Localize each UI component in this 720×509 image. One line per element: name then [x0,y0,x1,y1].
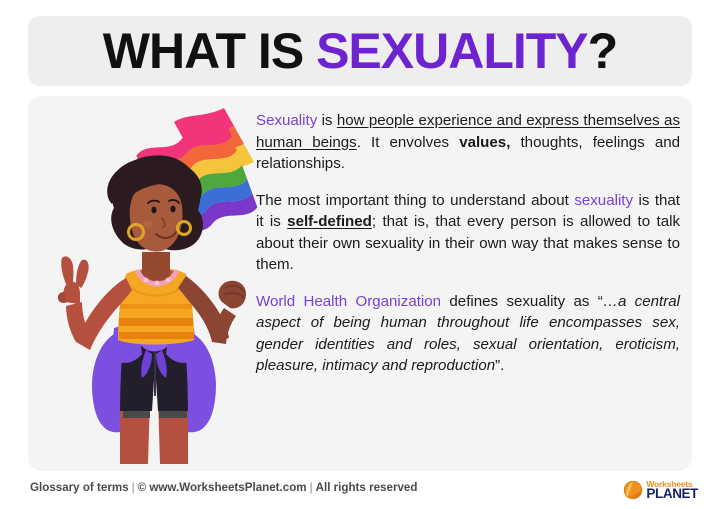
planet-ball-icon [623,480,643,500]
p1-seg-4: . It envolves [357,134,459,151]
p3-seg-4: ”. [495,357,504,374]
copyright-icon: © [138,481,147,494]
worksheets-planet-logo: Worksheets PLANET [623,477,698,503]
page-title: WHAT IS SEXUALITY? [103,26,617,76]
paragraph-1: Sexuality is how people experience and e… [256,110,680,175]
term-world-health-organization: World Health Organization [256,293,441,310]
illustration-woman-with-pride-flag [28,96,260,471]
neck-shape [142,252,170,281]
footer-website-link[interactable]: www.WorksheetsPlanet.com [149,481,306,494]
title-accent-part: SEXUALITY [316,23,588,79]
p2-term-sexuality: sexuality [574,192,633,209]
footer-rights-label: All rights reserved [316,481,418,494]
title-suffix-part: ? [588,23,618,79]
title-bar: WHAT IS SEXUALITY? [28,16,692,86]
p2-seg-1: The most important thing to understand a… [256,192,574,209]
footer-credit-line: Glossary of terms|© www.WorksheetsPlanet… [30,481,417,494]
worksheet-page: WHAT IS SEXUALITY? [0,0,720,509]
paragraph-2: The most important thing to understand a… [256,190,680,276]
head-shape [107,155,203,251]
p1-seg-2: is [317,112,337,129]
content-panel: Sexuality is how people experience and e… [28,96,692,471]
footer-separator-2: | [307,481,316,494]
logo-wordmark: Worksheets PLANET [646,480,698,501]
logo-bottom-word: PLANET [646,487,698,501]
footer-separator-1: | [129,481,138,494]
p3-seg-2: defines sexuality as “ [441,293,603,310]
title-plain-part: WHAT IS [103,23,316,79]
paragraph-3: World Health Organization defines sexual… [256,291,680,377]
footer-glossary-label: Glossary of terms [30,481,129,494]
term-sexuality: Sexuality [256,112,317,129]
footer: Glossary of terms|© www.WorksheetsPlanet… [0,475,720,509]
p2-emphasis-self-defined: self-defined [287,213,372,230]
p1-bold-values: values, [459,134,510,151]
definition-text-column: Sexuality is how people experience and e… [256,110,680,460]
